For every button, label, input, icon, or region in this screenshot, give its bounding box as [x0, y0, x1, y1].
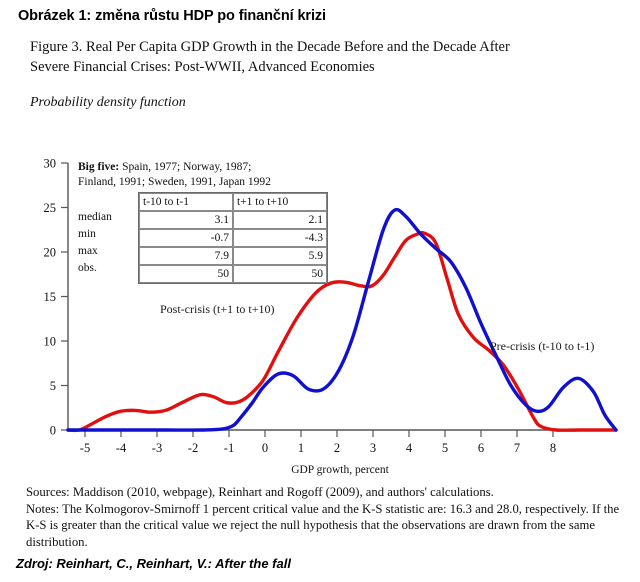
stats-row-label-min: min	[78, 226, 138, 243]
xtick-3: 3	[370, 441, 376, 455]
xtick-2: 2	[334, 441, 340, 455]
x-axis-title: GDP growth, percent	[291, 464, 389, 476]
big-five-stats-box: Big five: Spain, 1977; Norway, 1987; Fin…	[78, 160, 328, 284]
xtick--3: -3	[152, 441, 162, 455]
czech-source-line: Zdroj: Reinhart, C., Reinhart, V.: After…	[16, 556, 291, 571]
stats-row-label-obs: obs.	[78, 260, 138, 277]
stats-median-pre: 3.1	[139, 211, 233, 229]
stats-max-pre: 7.9	[139, 247, 233, 265]
xtick--1: -1	[224, 441, 234, 455]
figure-heading-line1: Figure 3. Real Per Capita GDP Growth in …	[30, 39, 510, 55]
table-row: 3.1 2.1	[139, 211, 327, 229]
ytick-0: 0	[50, 424, 56, 438]
annotation-pre-crisis: Pre-crisis (t-10 to t-1)	[490, 339, 594, 353]
footnotes: Sources: Maddison (2010, webpage), Reinh…	[26, 484, 626, 550]
xtick-6: 6	[478, 441, 484, 455]
ytick-20: 20	[44, 246, 57, 260]
stats-box-title-rest: Spain, 1977; Norway, 1987;	[119, 161, 251, 173]
figure-heading: Figure 3. Real Per Capita GDP Growth in …	[30, 38, 620, 77]
stats-col-header-post: t+1 to t+10	[233, 193, 327, 211]
xtick--4: -4	[116, 441, 127, 455]
ytick-25: 25	[44, 201, 57, 215]
stats-median-post: 2.1	[233, 211, 327, 229]
probability-density-label: Probability density function	[30, 95, 186, 111]
xtick-1: 1	[298, 441, 304, 455]
table-row: -0.7 -4.3	[139, 229, 327, 247]
xtick-8: 8	[550, 441, 556, 455]
x-axis-tick-labels: -5 -4 -3 -2 -1 0 1 2 3 4 5 6 7 8	[80, 441, 556, 455]
xtick--5: -5	[80, 441, 90, 455]
y-axis-tick-labels: 30 25 20 15 10 5 0	[44, 157, 57, 438]
density-chart: 30 25 20 15 10 5 0	[0, 150, 640, 480]
xtick-7: 7	[514, 441, 520, 455]
xtick-5: 5	[442, 441, 448, 455]
stats-col-header-pre: t-10 to t-1	[139, 193, 233, 211]
xtick-4: 4	[406, 441, 413, 455]
y-axis-ticks	[61, 163, 68, 430]
figure-page: Obrázek 1: změna růstu HDP po finanční k…	[0, 0, 640, 582]
stats-table: t-10 to t-1 t+1 to t+10 3.1 2.1 -0.7 -4.…	[138, 192, 328, 284]
stats-max-post: 5.9	[233, 247, 327, 265]
ytick-30: 30	[44, 157, 57, 171]
figure-heading-line2: Severe Financial Crises: Post-WWII, Adva…	[30, 58, 620, 78]
stats-min-pre: -0.7	[139, 229, 233, 247]
xtick-0: 0	[262, 441, 268, 455]
stats-table-header-row: t-10 to t-1 t+1 to t+10	[139, 193, 327, 211]
ytick-15: 15	[44, 290, 57, 304]
stats-obs-post: 50	[233, 265, 327, 283]
stats-row-label-max: max	[78, 243, 138, 260]
stats-box-title-line2: Finland, 1991; Sweden, 1991, Japan 1992	[78, 176, 271, 188]
stats-min-post: -4.3	[233, 229, 327, 247]
annotation-post-crisis: Post-crisis (t+1 to t+10)	[160, 302, 275, 316]
footnote-sources: Sources: Maddison (2010, webpage), Reinh…	[26, 484, 626, 501]
xtick--2: -2	[188, 441, 198, 455]
table-row: 50 50	[139, 265, 327, 283]
stats-box-title: Big five: Spain, 1977; Norway, 1987; Fin…	[78, 160, 328, 190]
stats-row-labels: median min max obs.	[78, 192, 138, 277]
ytick-10: 10	[44, 335, 57, 349]
stats-obs-pre: 50	[139, 265, 233, 283]
stats-row-label-median: median	[78, 209, 138, 226]
footnote-notes: Notes: The Kolmogorov-Smirnoff 1 percent…	[26, 501, 626, 551]
czech-caption: Obrázek 1: změna růstu HDP po finanční k…	[18, 8, 326, 24]
ytick-5: 5	[50, 379, 56, 393]
stats-box-title-lead: Big five:	[78, 161, 119, 173]
table-row: 7.9 5.9	[139, 247, 327, 265]
